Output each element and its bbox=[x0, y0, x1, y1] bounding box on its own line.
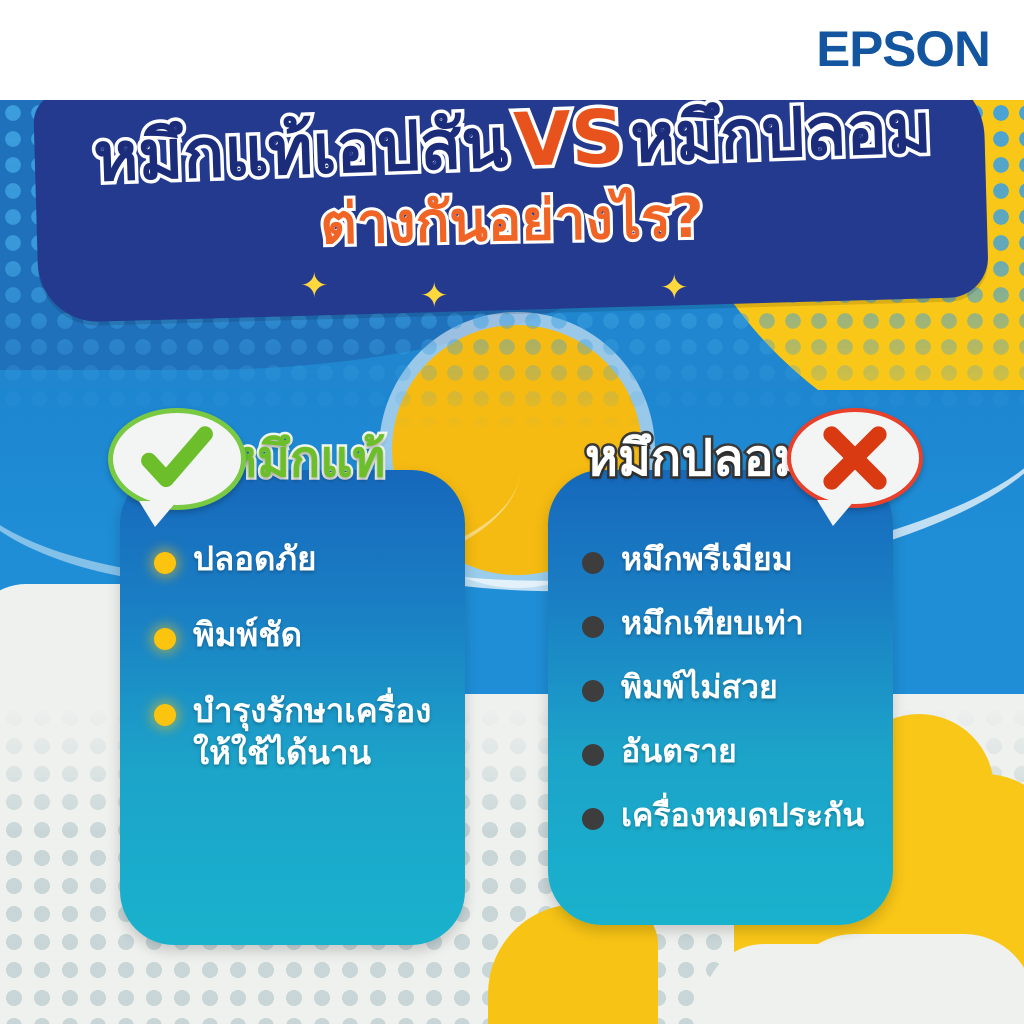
list-item: พิมพ์ไม่สวย bbox=[582, 666, 879, 708]
fake-header-label: หมึกปลอม bbox=[585, 428, 807, 488]
genuine-header-label: หมึกแท้ bbox=[224, 429, 385, 489]
poster-canvas: ✦ ✦ ✦ หมึกแท้เอปสันVSหมึกปลอม ต่างกันอย่… bbox=[0, 0, 1024, 1024]
list-item: พิมพ์ชัด bbox=[154, 614, 451, 656]
list-item: บำรุงรักษาเครื่อง ให้ใช้ได้นาน bbox=[154, 690, 451, 774]
genuine-bullet-list: ปลอดภัย พิมพ์ชัด บำรุงรักษาเครื่อง ให้ใช… bbox=[154, 538, 451, 808]
fake-bullet-list: หมึกพรีเมียม หมึกเทียบเท่า พิมพ์ไม่สวย อ… bbox=[582, 538, 879, 858]
list-item-label: ปลอดภัย bbox=[193, 538, 317, 580]
list-item-label: อันตราย bbox=[621, 730, 737, 772]
check-icon bbox=[138, 420, 216, 498]
headline-genuine-text: หมึกแท้เอปสัน bbox=[92, 104, 509, 197]
bullet-dot-icon bbox=[154, 552, 176, 574]
genuine-ink-card: ปลอดภัย พิมพ์ชัด บำรุงรักษาเครื่อง ให้ใช… bbox=[120, 470, 465, 945]
genuine-card-header: หมึกแท้ bbox=[108, 408, 385, 510]
x-speech-bubble bbox=[787, 408, 923, 508]
bullet-dot-icon bbox=[582, 616, 604, 638]
header-bar: EPSON bbox=[0, 0, 1024, 100]
bullet-dot-icon bbox=[582, 808, 604, 830]
list-item-label: หมึกเทียบเท่า bbox=[621, 602, 804, 644]
bullet-dot-icon bbox=[154, 628, 176, 650]
list-item-label: เครื่องหมดประกัน bbox=[621, 794, 864, 836]
list-item: อันตราย bbox=[582, 730, 879, 772]
x-icon bbox=[816, 419, 894, 497]
bullet-dot-icon bbox=[582, 680, 604, 702]
headline-fake-text: หมึกปลอม bbox=[629, 89, 933, 178]
list-item-label: หมึกพรีเมียม bbox=[621, 538, 793, 580]
sparkle-icon: ✦ bbox=[300, 266, 329, 306]
sparkle-icon: ✦ bbox=[660, 268, 689, 308]
fake-card-header: หมึกปลอม bbox=[585, 408, 923, 508]
list-item: หมึกพรีเมียม bbox=[582, 538, 879, 580]
list-item-label: พิมพ์ไม่สวย bbox=[621, 666, 778, 708]
list-item-label: พิมพ์ชัด bbox=[193, 614, 302, 656]
check-speech-bubble bbox=[108, 408, 246, 510]
list-item: เครื่องหมดประกัน bbox=[582, 794, 879, 836]
bullet-dot-icon bbox=[582, 744, 604, 766]
epson-logo: EPSON bbox=[816, 23, 989, 75]
comparison-section: ปลอดภัย พิมพ์ชัด บำรุงรักษาเครื่อง ให้ใช… bbox=[0, 470, 1024, 1024]
list-item: หมึกเทียบเท่า bbox=[582, 602, 879, 644]
bullet-dot-icon bbox=[582, 552, 604, 574]
fake-ink-card: หมึกพรีเมียม หมึกเทียบเท่า พิมพ์ไม่สวย อ… bbox=[548, 470, 893, 925]
list-item-label: บำรุงรักษาเครื่อง ให้ใช้ได้นาน bbox=[193, 690, 431, 774]
list-item: ปลอดภัย bbox=[154, 538, 451, 580]
bullet-dot-icon bbox=[154, 704, 176, 726]
sparkle-icon: ✦ bbox=[420, 276, 449, 316]
headline-vs-text: VS bbox=[506, 94, 632, 184]
